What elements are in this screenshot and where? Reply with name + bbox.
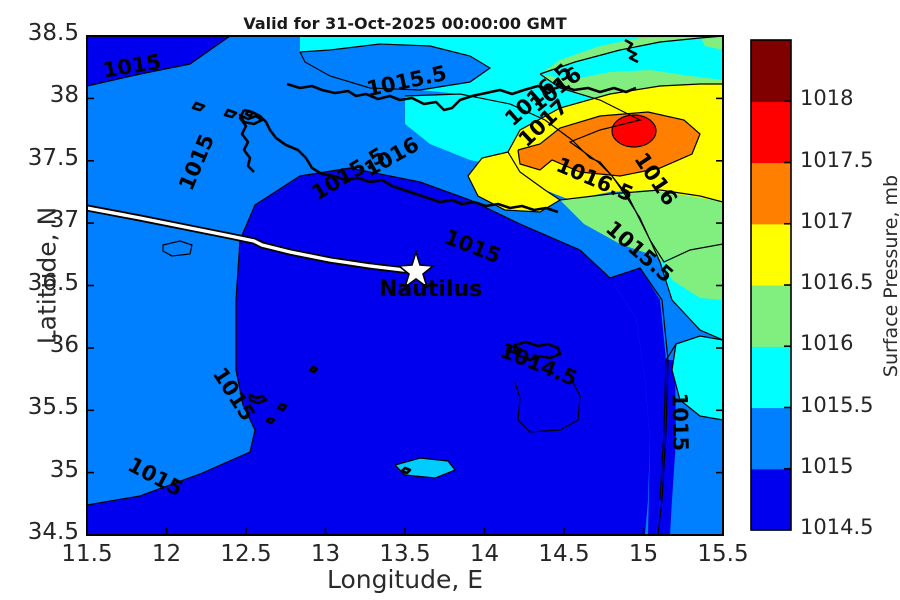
x-tick-label: 15.5 bbox=[678, 541, 768, 567]
y-tick-label: 38 bbox=[0, 82, 79, 108]
y-tick-label: 36 bbox=[0, 332, 79, 358]
colorbar-swatch bbox=[751, 101, 791, 163]
colorbar-swatch bbox=[751, 469, 791, 531]
y-tick-label: 35.5 bbox=[0, 394, 79, 420]
colorbar-swatch bbox=[751, 163, 791, 225]
nautilus-marker-label: Nautilus bbox=[379, 277, 482, 302]
colorbar-tick-label: 1015.5 bbox=[800, 393, 900, 417]
x-tick-label: 15 bbox=[599, 541, 689, 567]
colorbar-swatch bbox=[751, 224, 791, 286]
y-tick-label: 35 bbox=[0, 457, 79, 483]
colorbar-tick-label: 1017 bbox=[800, 209, 900, 233]
x-tick-label: 14 bbox=[440, 541, 530, 567]
x-tick-label: 13.5 bbox=[360, 541, 450, 567]
colorbar-swatch bbox=[751, 346, 791, 408]
colorbar-swatch bbox=[751, 40, 791, 102]
contour-label: 1015 bbox=[667, 392, 692, 451]
colorbar-swatch bbox=[751, 408, 791, 470]
x-tick-label: 13 bbox=[281, 541, 371, 567]
y-tick-label: 37 bbox=[0, 207, 79, 233]
colorbar-tick-label: 1017.5 bbox=[800, 148, 900, 172]
y-tick-label: 37.5 bbox=[0, 145, 79, 171]
x-axis-title: Longitude, E bbox=[0, 565, 810, 594]
x-tick-label: 12 bbox=[122, 541, 212, 567]
y-tick-label: 34.5 bbox=[0, 519, 79, 545]
colorbar-tick-label: 1015 bbox=[800, 454, 900, 478]
x-tick-label: 12.5 bbox=[201, 541, 291, 567]
pressure-map-figure: Valid for 31-Oct-2025 00:00:00 GMT bbox=[0, 0, 900, 600]
y-tick-label: 36.5 bbox=[0, 270, 79, 296]
y-tick-label: 38.5 bbox=[0, 20, 79, 46]
colorbar bbox=[751, 40, 791, 531]
x-tick-label: 14.5 bbox=[519, 541, 609, 567]
colorbar-tick-label: 1016.5 bbox=[800, 270, 900, 294]
colorbar-tick-label: 1018 bbox=[800, 86, 900, 110]
colorbar-swatch bbox=[751, 285, 791, 347]
colorbar-tick-label: 1016 bbox=[800, 331, 900, 355]
colorbar-tick-label: 1014.5 bbox=[800, 515, 900, 539]
